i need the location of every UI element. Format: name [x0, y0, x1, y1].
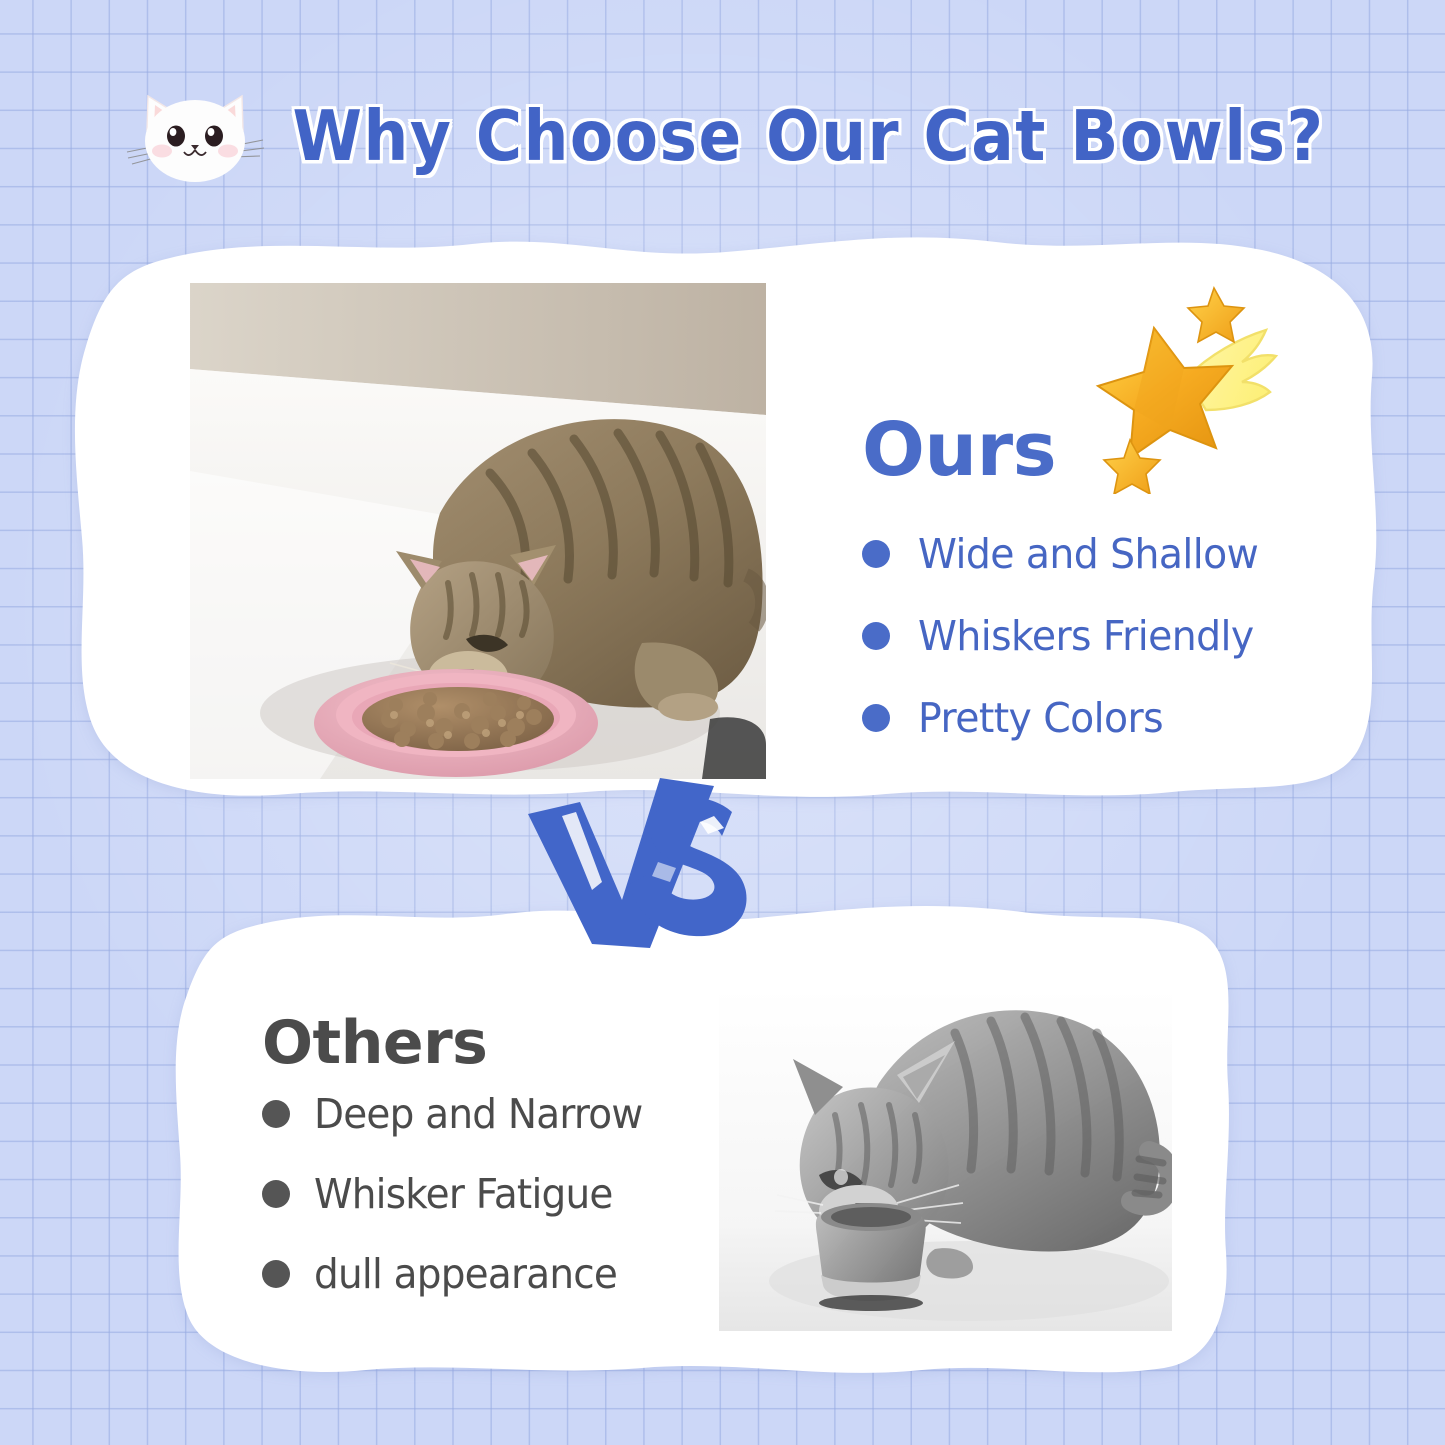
others-heading: Others	[262, 1010, 692, 1076]
list-item: Pretty Colors	[862, 694, 1332, 742]
page-title: Why Choose Our Cat Bowls?	[293, 96, 1325, 176]
ours-item-label: Wide and Shallow	[918, 530, 1258, 578]
cat-face-icon	[121, 84, 269, 188]
ours-column: Ours	[862, 406, 1332, 776]
gray-cat-eating-from-deep-narrow-bowl-photo	[719, 963, 1172, 1331]
others-item-label: dull appearance	[314, 1250, 617, 1298]
bullet-icon	[862, 540, 890, 568]
others-drawback-list: Deep and Narrow Whisker Fatigue dull app…	[262, 1090, 692, 1298]
bullet-icon	[262, 1260, 290, 1288]
bullet-icon	[862, 704, 890, 732]
ours-feature-list: Wide and Shallow Whiskers Friendly Prett…	[862, 530, 1332, 742]
bullet-icon	[862, 622, 890, 650]
ours-item-label: Pretty Colors	[918, 694, 1163, 742]
others-column: Others Deep and Narrow Whisker Fatigue d…	[262, 1010, 692, 1330]
bullet-icon	[262, 1180, 290, 1208]
ours-item-label: Whiskers Friendly	[918, 612, 1254, 660]
others-item-label: Whisker Fatigue	[314, 1170, 613, 1218]
bullet-icon	[262, 1100, 290, 1128]
list-item: Deep and Narrow	[262, 1090, 692, 1138]
list-item: dull appearance	[262, 1250, 692, 1298]
others-item-label: Deep and Narrow	[314, 1090, 642, 1138]
list-item: Whiskers Friendly	[862, 612, 1332, 660]
list-item: Whisker Fatigue	[262, 1170, 692, 1218]
versus-badge	[518, 772, 748, 952]
list-item: Wide and Shallow	[862, 530, 1332, 578]
header: Why Choose Our Cat Bowls?	[0, 84, 1445, 188]
tabby-cat-eating-from-pink-shallow-bowl-photo	[190, 283, 766, 779]
shooting-star-icon	[1090, 282, 1280, 494]
